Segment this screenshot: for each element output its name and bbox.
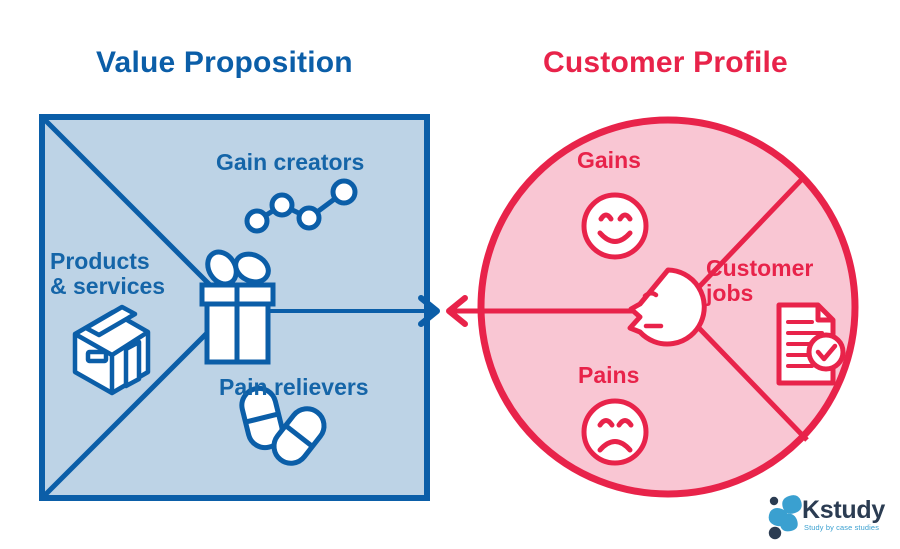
logo-tagline: Study by case studies xyxy=(804,523,879,532)
gift-box-icon xyxy=(202,247,273,362)
label-gain-creators: Gain creators xyxy=(216,150,364,175)
label-customer-jobs-line2: jobs xyxy=(706,280,753,306)
label-gains: Gains xyxy=(577,148,641,173)
label-products-line2: & services xyxy=(50,273,165,299)
smiley-sad-face-icon xyxy=(584,401,646,463)
label-pains: Pains xyxy=(578,363,639,388)
smiley-happy-face-icon xyxy=(584,195,646,257)
label-products-and-services: Products & services xyxy=(50,249,200,299)
page-title-customer-profile: Customer Profile xyxy=(543,46,788,80)
diagram-canvas: Value Proposition Customer Profile Gain … xyxy=(0,0,900,549)
label-pain-relievers: Pain relievers xyxy=(219,375,369,400)
label-customer-jobs-line1: Customer xyxy=(706,255,813,281)
logo-wordmark: Kstudy xyxy=(802,496,885,525)
kstudy-logo: Kstudy Study by case studies xyxy=(766,495,894,541)
label-products-line1: Products xyxy=(50,248,150,274)
page-title-value-proposition: Value Proposition xyxy=(96,46,353,80)
label-customer-jobs: Customer jobs xyxy=(706,256,834,306)
